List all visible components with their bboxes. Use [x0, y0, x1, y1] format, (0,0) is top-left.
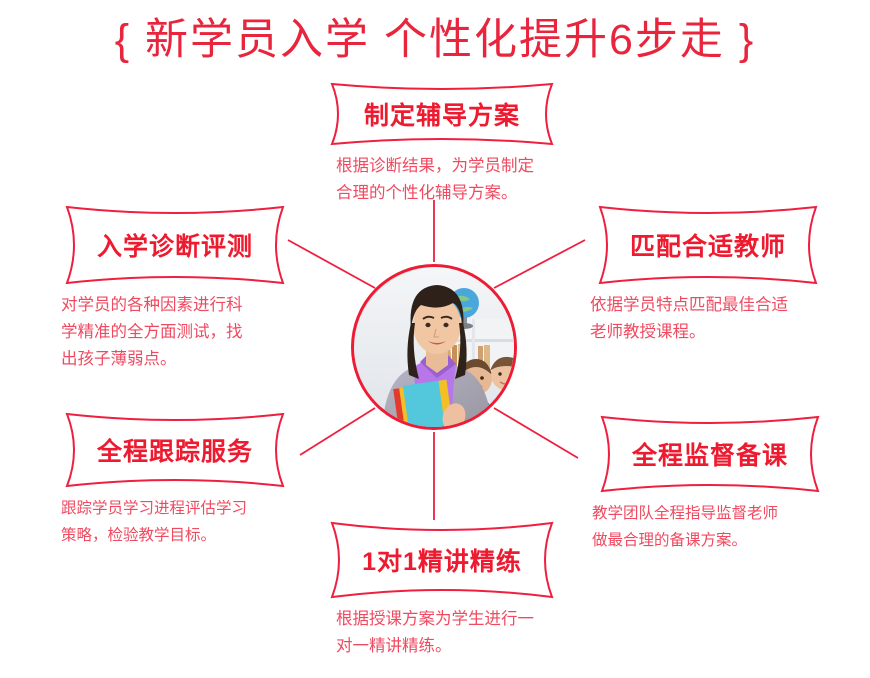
node-heading: 制定辅导方案	[318, 82, 566, 146]
node-top-left[interactable]: 入学诊断评测 对学员的各种因素进行科 学精准的全方面测试，找 出孩子薄弱点。	[55, 205, 295, 373]
node-description: 对学员的各种因素进行科 学精准的全方面测试，找 出孩子薄弱点。	[55, 292, 295, 373]
ribbon-banner: 1对1精讲精练	[320, 521, 564, 599]
node-heading: 匹配合适教师	[588, 205, 828, 285]
ribbon-banner: 制定辅导方案	[318, 82, 566, 146]
node-bottom-center[interactable]: 1对1精讲精练 根据授课方案为学生进行一 对一精讲精练。	[320, 521, 564, 660]
node-description: 教学团队全程指导监督老师 做最合理的备课方案。	[590, 500, 830, 554]
node-bottom-left[interactable]: 全程跟踪服务 跟踪学员学习进程评估学习 策略，检验教学目标。	[55, 412, 295, 549]
node-heading: 全程监督备课	[590, 415, 830, 493]
node-description: 跟踪学员学习进程评估学习 策略，检验教学目标。	[55, 495, 295, 549]
ribbon-banner: 匹配合适教师	[588, 205, 828, 285]
center-photo-circle	[351, 264, 517, 430]
node-heading: 全程跟踪服务	[55, 412, 295, 488]
ribbon-banner: 全程监督备课	[590, 415, 830, 493]
teacher-students-photo	[354, 267, 514, 427]
node-description: 根据诊断结果，为学员制定 合理的个性化辅导方案。	[318, 153, 566, 207]
node-top-right[interactable]: 匹配合适教师 依据学员特点匹配最佳合适 老师教授课程。	[588, 205, 828, 346]
ribbon-banner: 全程跟踪服务	[55, 412, 295, 488]
node-heading: 1对1精讲精练	[320, 521, 564, 599]
node-top-center[interactable]: 制定辅导方案 根据诊断结果，为学员制定 合理的个性化辅导方案。	[318, 82, 566, 207]
node-description: 根据授课方案为学生进行一 对一精讲精练。	[320, 606, 564, 660]
infographic-page: { 新学员入学 个性化提升6步走 }	[0, 0, 870, 678]
ribbon-banner: 入学诊断评测	[55, 205, 295, 285]
node-bottom-right[interactable]: 全程监督备课 教学团队全程指导监督老师 做最合理的备课方案。	[590, 415, 830, 554]
node-description: 依据学员特点匹配最佳合适 老师教授课程。	[588, 292, 828, 346]
node-heading: 入学诊断评测	[55, 205, 295, 285]
